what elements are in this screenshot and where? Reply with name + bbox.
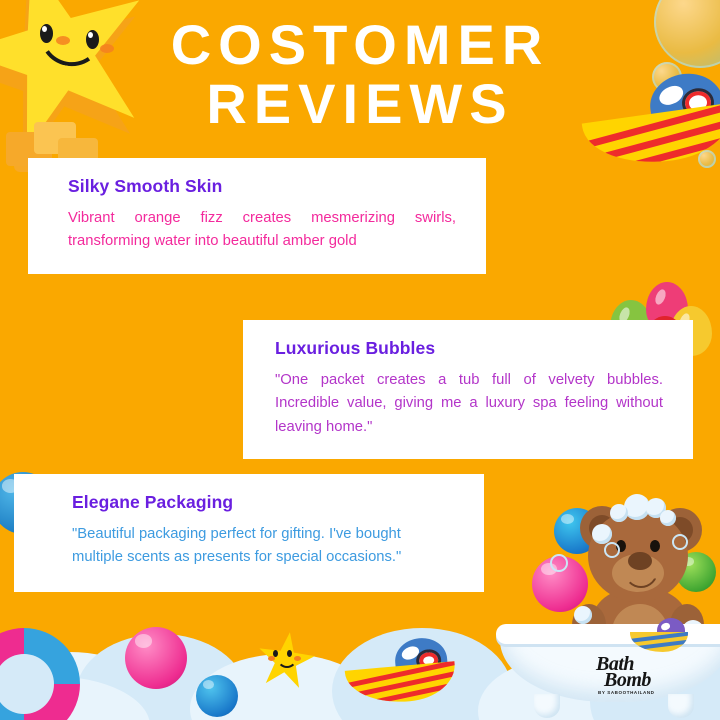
duck-head — [536, 646, 555, 664]
soap-bubble-icon — [698, 150, 716, 168]
boat-hull — [630, 632, 688, 652]
brand-tagline: BY SABOOTHAILAND — [598, 691, 716, 695]
bear-ear-left — [580, 506, 624, 550]
duck-body — [536, 655, 568, 674]
foam-bubble — [658, 632, 684, 658]
foam-puff — [332, 628, 512, 720]
foam-bubble — [682, 620, 704, 642]
bathtub-foot — [668, 694, 694, 718]
swim-ring-icon — [0, 628, 80, 720]
bear-ear-right — [658, 508, 702, 552]
foam-bubble — [610, 634, 636, 660]
outline-bubble-icon — [672, 534, 688, 550]
review-body: Vibrant orange fizz creates mesmerizing … — [68, 207, 456, 254]
foam-bubble — [564, 628, 592, 656]
toy-boat-icon — [343, 635, 458, 706]
star-blush-left-icon — [268, 656, 275, 661]
bathtub-body — [500, 630, 720, 702]
foam-bubble — [592, 524, 612, 544]
bear-belly — [612, 604, 668, 660]
foam-puff — [0, 676, 150, 720]
bath-bomb-ball-icon — [532, 556, 588, 612]
poster-title-line1: COSTOMER — [0, 16, 720, 73]
foam-bubble — [610, 504, 628, 522]
brand-logo-line1: Bath — [596, 656, 716, 672]
bear-body — [592, 588, 688, 664]
review-card-elegane-packaging: Elegane Packaging "Beautiful packaging p… — [14, 474, 484, 592]
bear-arm-right — [670, 604, 704, 646]
boat-stripe — [630, 639, 688, 652]
duck-beak — [530, 653, 540, 660]
bathtub-foot — [534, 694, 560, 718]
boat-cabin — [393, 636, 449, 679]
bathtub-icon: Bath Bomb BY SABOOTHAILAND — [500, 630, 720, 720]
foam-bubble — [646, 498, 666, 518]
star-smile-icon — [277, 654, 297, 668]
poster-title: COSTOMER REVIEWS — [0, 16, 720, 132]
bathtub-rim — [496, 624, 720, 644]
review-card-luxurious-bubbles: Luxurious Bubbles "One packet creates a … — [243, 320, 693, 459]
review-card-silky-smooth-skin: Silky Smooth Skin Vibrant orange fizz cr… — [28, 158, 486, 274]
bath-bomb-ball-icon — [554, 508, 600, 554]
boat-window-icon — [400, 644, 421, 662]
foam-puff — [76, 634, 246, 720]
foam-bubble — [660, 510, 676, 526]
outline-bubble-icon — [604, 542, 620, 558]
foam-puff — [0, 652, 160, 720]
foam-bubble — [574, 606, 592, 624]
brand-logo: Bath Bomb BY SABOOTHAILAND — [596, 656, 716, 694]
boat-cabin — [657, 618, 685, 639]
star-eye-left-icon — [273, 650, 278, 657]
review-title: Luxurious Bubbles — [275, 338, 663, 359]
foam-bubble — [636, 642, 656, 662]
boat-hull — [345, 661, 458, 706]
foam-bubble — [624, 494, 650, 520]
review-title: Silky Smooth Skin — [68, 176, 456, 197]
rubber-duck-icon — [536, 646, 570, 674]
boat-stripe — [345, 661, 458, 690]
foam-bubble — [586, 640, 608, 662]
star-eye-right-icon — [287, 650, 292, 657]
review-title: Elegane Packaging — [72, 492, 450, 513]
review-body: "Beautiful packaging perfect for gifting… — [72, 523, 450, 570]
bath-bomb-ball-icon — [125, 627, 187, 689]
review-body: "One packet creates a tub full of velvet… — [275, 369, 663, 439]
bear-eye-right — [650, 540, 660, 552]
boat-stripe — [582, 126, 720, 172]
bear-head — [588, 510, 688, 602]
boat-stripe — [345, 667, 458, 702]
foam-puff — [478, 658, 648, 720]
bear-eye-left — [616, 540, 626, 552]
boat-window-icon — [660, 621, 671, 630]
star-blush-right-icon — [294, 656, 301, 661]
bear-arm-left — [572, 604, 606, 646]
smiling-star-icon — [254, 628, 317, 691]
poster-canvas: Bath Bomb BY SABOOTHAILAND COSTOMER REVI… — [0, 0, 720, 720]
toy-boat-icon — [630, 618, 688, 652]
outline-bubble-icon — [550, 554, 568, 572]
foam-puff — [590, 642, 720, 720]
poster-title-line2: REVIEWS — [0, 75, 720, 132]
boat-stripe — [630, 632, 688, 644]
teddy-bear-icon — [566, 500, 710, 660]
brand-logo-line2: Bomb — [604, 672, 716, 688]
bath-bomb-ball-icon — [676, 552, 716, 592]
bear-nose-icon — [628, 552, 652, 570]
bath-bomb-ball-icon — [196, 675, 238, 717]
bear-mouth — [624, 570, 658, 588]
boat-stripe — [345, 678, 458, 707]
boat-porthole-icon — [415, 648, 442, 673]
star-face-icon — [268, 650, 304, 670]
foam-cloud-icon — [0, 606, 720, 720]
bear-muzzle — [612, 554, 664, 592]
duck-eye — [544, 651, 548, 655]
foam-puff — [190, 654, 380, 720]
